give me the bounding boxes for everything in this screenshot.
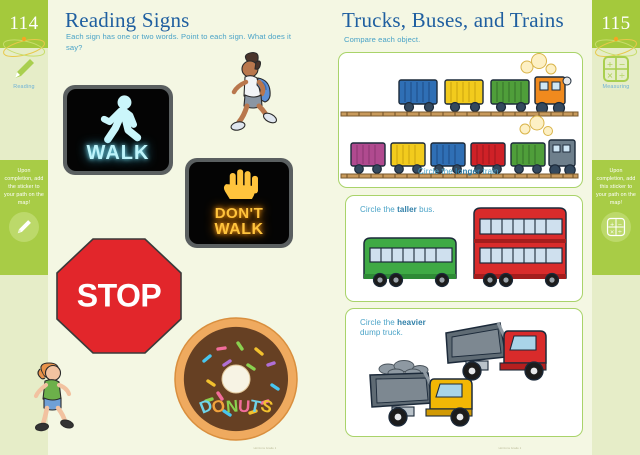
- dontwalk-sign-line2: WALK: [189, 221, 289, 239]
- short-train: [341, 77, 578, 116]
- stop-sign-text: STOP: [55, 278, 183, 315]
- buses-caption-prefix: Circle the: [360, 205, 397, 214]
- trains-caption-prefix: Circle the: [418, 167, 455, 176]
- page-title-right: Trucks, Buses, and Trains: [342, 8, 564, 33]
- sticker-badge-left: [9, 212, 39, 242]
- donut[interactable]: DONUTS: [172, 315, 300, 443]
- math-operations-icon: + − × ÷: [603, 56, 629, 82]
- trucks-caption-prefix: Circle the: [360, 318, 397, 327]
- svg-text:+: +: [607, 60, 614, 69]
- subject-label-left: Reading: [13, 84, 34, 90]
- svg-text:÷: ÷: [619, 71, 626, 80]
- footer-right: Horizons Grade 1: [420, 447, 600, 450]
- trains-caption-suffix: train.: [480, 167, 501, 176]
- footer-left: Horizons Grade 1: [175, 447, 355, 450]
- sticker-note-left: Upon completion, add the sticker to your…: [0, 160, 48, 275]
- pencil-icon: [15, 218, 33, 236]
- page-subtitle-left: Each sign has one or two words. Point to…: [66, 32, 296, 53]
- trains-caption-bold: longer: [455, 167, 480, 176]
- walk-sign[interactable]: WALK: [63, 85, 173, 175]
- stop-sign[interactable]: STOP: [55, 237, 183, 355]
- raised-hand-icon: [189, 162, 289, 210]
- loaded-dump-truck: [370, 361, 472, 427]
- subject-label-right: Measuring: [603, 84, 630, 90]
- single-decker-bus: [364, 238, 456, 287]
- walk-sign-text: WALK: [67, 142, 169, 165]
- donut-shape: [172, 315, 300, 443]
- dontwalk-sign[interactable]: DON'T WALK: [185, 158, 293, 248]
- svg-text:×: ×: [607, 71, 614, 80]
- page-title-left: Reading Signs: [65, 8, 190, 33]
- walk-sign-face: WALK: [67, 89, 169, 171]
- subject-badge-left: Reading: [0, 56, 48, 90]
- math-operations-icon: + − × ÷: [606, 217, 626, 237]
- svg-text:−: −: [619, 60, 626, 69]
- sticker-note-right: Upon completion, add this sticker to you…: [592, 160, 640, 275]
- sticker-note-left-text: Upon completion, add the sticker to your…: [3, 167, 45, 207]
- donut-text: DONUTS: [172, 397, 300, 417]
- double-decker-bus: [474, 208, 566, 287]
- pencil-icon: [11, 56, 37, 82]
- running-girl-with-backpack: [218, 52, 284, 138]
- buses-caption-suffix: bus.: [417, 205, 435, 214]
- page-number-right: 115: [592, 0, 640, 48]
- trucks-caption: Circle the heavier dump truck.: [360, 318, 440, 338]
- workbook-spread: 114 Reading Upon completion, add the sti…: [0, 0, 640, 455]
- dontwalk-sign-line1: DON'T: [189, 205, 289, 222]
- empty-dump-truck: [446, 323, 546, 380]
- sticker-badge-right: + − × ÷: [601, 212, 631, 242]
- trains-illustration: [339, 53, 580, 185]
- trains-caption: Circle the longer train.: [338, 167, 581, 177]
- buses-caption: Circle the taller bus.: [360, 205, 440, 215]
- dontwalk-sign-face: DON'T WALK: [189, 162, 289, 244]
- page-number-right-text: 115: [601, 13, 630, 35]
- page-number-left: 114: [0, 0, 48, 48]
- buses-caption-bold: taller: [397, 205, 417, 214]
- svg-text:×: ×: [610, 230, 615, 236]
- walking-boy: [24, 360, 80, 438]
- svg-text:÷: ÷: [618, 230, 623, 236]
- page-number-left-text: 114: [9, 13, 38, 35]
- svg-text:+: +: [610, 222, 615, 228]
- page-subtitle-right: Compare each object.: [344, 35, 544, 46]
- trucks-caption-suffix: dump truck.: [360, 328, 403, 337]
- trucks-caption-bold: heavier: [397, 318, 426, 327]
- sticker-note-right-text: Upon completion, add this sticker to you…: [595, 167, 637, 207]
- svg-text:−: −: [618, 222, 623, 228]
- subject-badge-right: + − × ÷ Measuring: [592, 56, 640, 90]
